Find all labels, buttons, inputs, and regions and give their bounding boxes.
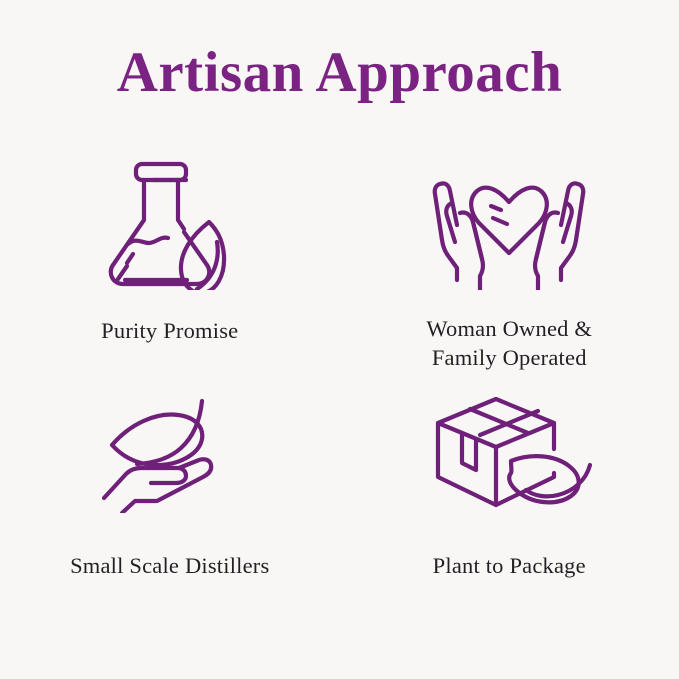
feature-label-line-1: Purity Promise xyxy=(101,318,238,343)
feature-label-plant-to-package: Plant to Package xyxy=(433,551,586,580)
hands-heart-icon xyxy=(419,150,599,290)
artisan-approach-graphic: Artisan Approach xyxy=(0,0,679,679)
feature-label-small-scale-distillers: Small Scale Distillers xyxy=(70,551,269,580)
flask-leaf-icon xyxy=(95,150,245,290)
feature-item-purity-promise: Purity Promise xyxy=(0,150,340,395)
hand-leaf-icon xyxy=(90,395,250,513)
feature-label-woman-owned: Woman Owned & Family Operated xyxy=(426,314,592,373)
feature-label-line-2: Family Operated xyxy=(432,345,587,370)
page-title: Artisan Approach xyxy=(0,44,679,101)
feature-item-plant-to-package: Plant to Package xyxy=(340,395,679,630)
feature-label-line-1: Small Scale Distillers xyxy=(70,553,269,578)
feature-item-small-scale-distillers: Small Scale Distillers xyxy=(0,395,340,630)
feature-grid: Purity Promise xyxy=(0,150,679,650)
box-leaf-icon xyxy=(424,395,594,513)
feature-label-purity-promise: Purity Promise xyxy=(101,316,238,345)
feature-item-woman-owned: Woman Owned & Family Operated xyxy=(340,150,679,395)
feature-label-line-1: Plant to Package xyxy=(433,553,586,578)
feature-label-line-1: Woman Owned & xyxy=(426,316,592,341)
